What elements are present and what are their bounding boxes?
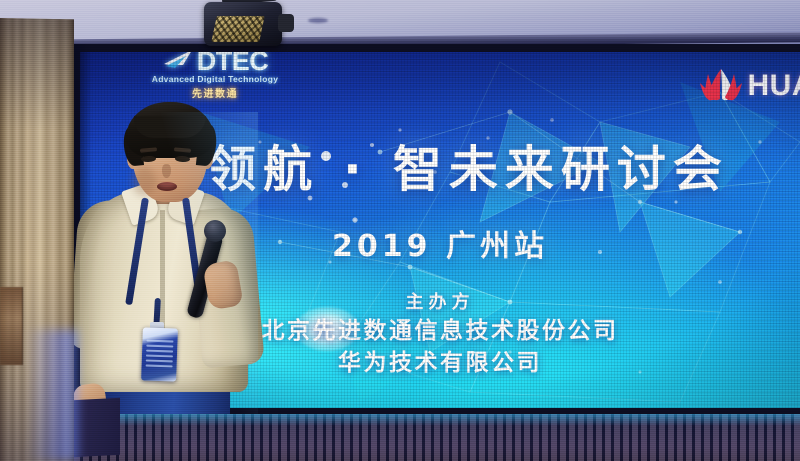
wall-fixture [0, 287, 23, 365]
nose [162, 164, 171, 178]
hair-fringe [134, 116, 206, 138]
spotlight-adjust-knob [278, 14, 294, 32]
curtain-blue-glow [26, 330, 78, 461]
face-shadow [132, 166, 156, 196]
spotlight-lens-grid [211, 16, 265, 42]
stage-base-panel [62, 414, 800, 461]
badge-text-lines [145, 340, 173, 371]
mouth [157, 182, 177, 191]
base-light-spill [62, 414, 800, 426]
stage-spotlight [196, 0, 300, 56]
ceiling-fixture-mark [308, 18, 328, 23]
conference-badge [141, 327, 178, 381]
conference-photo: DTEC Advanced Digital Technology 先进数通 HU… [0, 0, 800, 461]
